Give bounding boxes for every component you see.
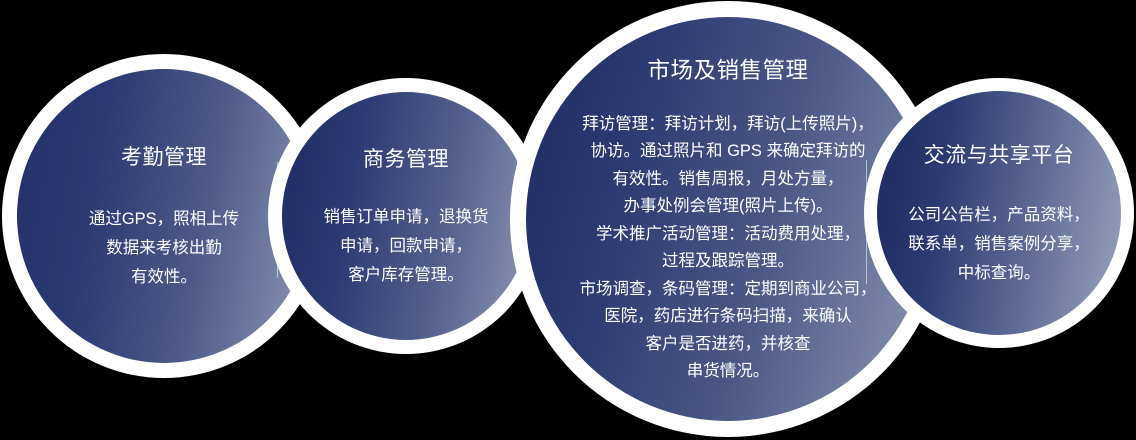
circle-title-business: 商务管理 — [363, 143, 449, 173]
circle-title-platform: 交流与共享平台 — [924, 139, 1075, 169]
body-line: 销售订单申请，退换货 — [324, 203, 489, 232]
circle-title-attendance: 考勤管理 — [121, 141, 207, 171]
circle-body-platform: 公司公告栏，产品资料， 联系单，销售案例分享， 中标查询。 — [908, 201, 1090, 288]
circle-inner-attendance: 考勤管理 通过GPS，照相上传 数据来考核出勤 有效性。 — [17, 69, 311, 363]
body-line: 客户库存管理。 — [324, 261, 489, 290]
divider-business-marketing — [517, 160, 518, 280]
circle-node-platform[interactable]: 交流与共享平台 公司公告栏，产品资料， 联系单，销售案例分享， 中标查询。 — [864, 78, 1134, 348]
body-line: 办事处例会管理(照片上传)。 — [580, 193, 877, 221]
body-line: 公司公告栏，产品资料， — [908, 201, 1090, 230]
body-line: 串货情况。 — [580, 358, 877, 386]
circle-body-marketing-sales: 拜访管理：拜访计划，拜访(上传照片)， 协访。通过照片和 GPS 来确定拜访的 … — [580, 111, 877, 386]
divider-attendance-business — [277, 162, 278, 278]
body-line: 通过GPS，照相上传 — [89, 205, 239, 234]
body-line: 有效性。销售周报，月处方量， — [580, 166, 877, 194]
circle-title-marketing-sales: 市场及销售管理 — [647, 53, 808, 85]
circle-inner-platform: 交流与共享平台 公司公告栏，产品资料， 联系单，销售案例分享， 中标查询。 — [877, 91, 1121, 335]
body-line: 协访。通过照片和 GPS 来确定拜访的 — [580, 138, 877, 166]
body-line: 中标查询。 — [908, 259, 1090, 288]
body-line: 过程及跟踪管理。 — [580, 248, 877, 276]
circle-body-attendance: 通过GPS，照相上传 数据来考核出勤 有效性。 — [89, 205, 239, 292]
body-line: 医院，药店进行条码扫描，来确认 — [580, 303, 877, 331]
circle-node-business[interactable]: 商务管理 销售订单申请，退换货 申请，回款申请， 客户库存管理。 — [268, 78, 544, 354]
body-line: 市场调查，条码管理：定期到商业公司， — [580, 276, 877, 304]
divider-marketing-platform — [866, 160, 867, 284]
body-line: 数据来考核出勤 — [89, 234, 239, 263]
body-line: 学术推广活动管理：活动费用处理， — [580, 221, 877, 249]
body-line: 拜访管理：拜访计划，拜访(上传照片)， — [580, 111, 877, 139]
diagram-canvas: 考勤管理 通过GPS，照相上传 数据来考核出勤 有效性。 商务管理 销售订单申请… — [0, 0, 1136, 440]
body-line: 联系单，销售案例分享， — [908, 230, 1090, 259]
circle-inner-business: 商务管理 销售订单申请，退换货 申请，回款申请， 客户库存管理。 — [282, 92, 530, 340]
circle-body-business: 销售订单申请，退换货 申请，回款申请， 客户库存管理。 — [324, 203, 489, 290]
body-line: 客户是否进药，并核查 — [580, 331, 877, 359]
body-line: 有效性。 — [89, 263, 239, 292]
body-line: 申请，回款申请， — [324, 232, 489, 261]
